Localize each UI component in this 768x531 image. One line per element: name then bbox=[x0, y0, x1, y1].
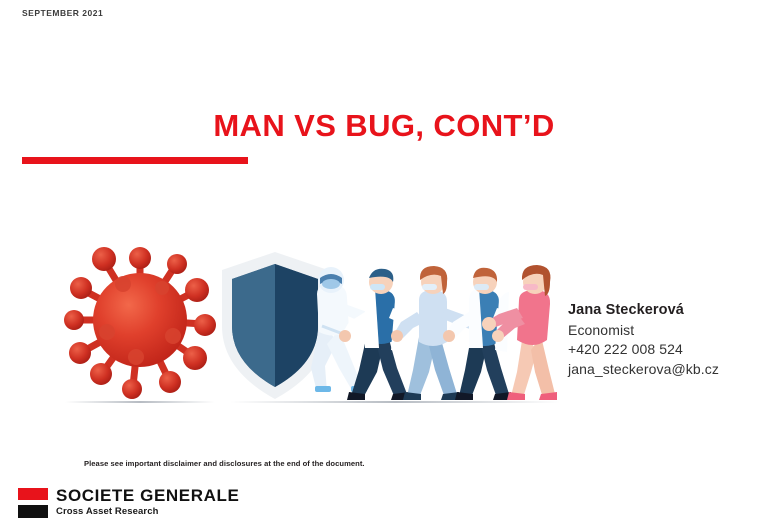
title-underline-rule bbox=[22, 157, 248, 164]
contact-role: Economist bbox=[568, 321, 763, 341]
contact-block: Jana Steckerová Economist +420 222 008 5… bbox=[568, 300, 763, 380]
people-pushing-shield-group bbox=[303, 260, 565, 405]
sg-logo-mark-icon bbox=[18, 488, 48, 518]
sg-logo-text: SOCIETE GENERALE Cross Asset Research bbox=[56, 487, 239, 517]
societe-generale-logo: SOCIETE GENERALE Cross Asset Research bbox=[18, 487, 239, 518]
sg-logo-red-band bbox=[18, 488, 48, 500]
coronavirus-icon bbox=[63, 240, 218, 400]
sg-logo-tagline: Cross Asset Research bbox=[56, 506, 239, 517]
illustration-group bbox=[55, 240, 565, 415]
disclaimer-text: Please see important disclaimer and disc… bbox=[84, 459, 365, 468]
sg-logo-black-band bbox=[18, 505, 48, 518]
slide-date: SEPTEMBER 2021 bbox=[22, 8, 103, 18]
sg-logo-wordmark: SOCIETE GENERALE bbox=[56, 487, 239, 504]
contact-name: Jana Steckerová bbox=[568, 300, 763, 321]
contact-email[interactable]: jana_steckerova@kb.cz bbox=[568, 360, 763, 380]
page-title: MAN VS BUG, CONT’D bbox=[0, 108, 768, 144]
slide-canvas: SEPTEMBER 2021 MAN VS BUG, CONT’D bbox=[0, 0, 768, 531]
virus-ground-shadow bbox=[65, 401, 215, 403]
contact-phone[interactable]: +420 222 008 524 bbox=[568, 340, 763, 360]
